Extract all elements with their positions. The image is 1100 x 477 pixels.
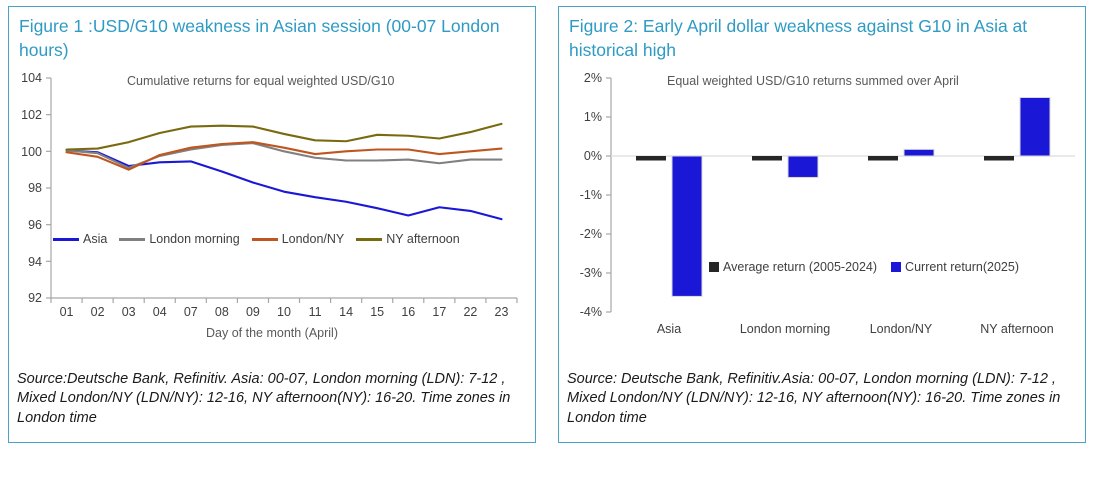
chart-2-y-tick: 2% xyxy=(559,71,602,85)
chart-1-x-tick: 09 xyxy=(246,305,260,319)
bar-ny-afternoon-current xyxy=(1020,98,1050,157)
chart-2-category-label: NY afternoon xyxy=(980,322,1053,336)
figure-1-panel: Figure 1 :USD/G10 weakness in Asian sess… xyxy=(8,6,536,477)
legend-label: Average return (2005-2024) xyxy=(723,260,877,274)
chart-1-y-tick: 96 xyxy=(9,218,42,232)
chart-2-y-tick: -3% xyxy=(559,266,602,280)
chart-1-x-tick: 01 xyxy=(60,305,74,319)
chart-1-x-tick: 03 xyxy=(122,305,136,319)
bar-chart-svg xyxy=(559,66,1085,366)
legend-label: Asia xyxy=(83,232,107,246)
figure-2-source-note: Source: Deutsche Bank, Refinitiv.Asia: 0… xyxy=(567,370,1079,427)
chart-2-y-tick: -4% xyxy=(559,305,602,319)
legend-label: Current return(2025) xyxy=(905,260,1019,274)
legend-item-average-return-2005-2024-: Average return (2005-2024) xyxy=(709,260,877,274)
chart-2-y-tick: -1% xyxy=(559,188,602,202)
chart-1-x-tick: 16 xyxy=(401,305,415,319)
legend-label: NY afternoon xyxy=(386,232,459,246)
chart-1-x-tick: 08 xyxy=(215,305,229,319)
legend-swatch-icon xyxy=(119,238,145,241)
chart-1-y-tick: 92 xyxy=(9,291,42,305)
figure-1-source-box: Source:Deutsche Bank, Refinitiv. Asia: 0… xyxy=(8,366,536,442)
line-series-asia xyxy=(67,151,502,220)
chart-1-x-tick: 04 xyxy=(153,305,167,319)
chart-1-x-tick: 10 xyxy=(277,305,291,319)
figure-1-source-note: Source:Deutsche Bank, Refinitiv. Asia: 0… xyxy=(17,370,529,427)
chart-2-category-label: Asia xyxy=(657,322,681,336)
figures-page: Figure 1 :USD/G10 weakness in Asian sess… xyxy=(0,0,1100,477)
chart-1-x-tick: 22 xyxy=(463,305,477,319)
legend-swatch-icon xyxy=(356,238,382,241)
chart-2-category-label: London/NY xyxy=(870,322,933,336)
bar-london-ny-current xyxy=(904,150,934,157)
legend-swatch-icon xyxy=(709,262,719,272)
chart-2-legend: Average return (2005-2024)Current return… xyxy=(709,260,1019,274)
figure-1-title: Figure 1 :USD/G10 weakness in Asian sess… xyxy=(19,15,527,62)
chart-2-y-tick: 1% xyxy=(559,110,602,124)
legend-item-london-morning: London morning xyxy=(119,232,239,246)
chart-1-x-tick: 15 xyxy=(370,305,384,319)
chart-1-subtitle: Cumulative returns for equal weighted US… xyxy=(127,74,395,88)
chart-2-category-label: London morning xyxy=(740,322,830,336)
chart-1-legend: AsiaLondon morningLondon/NYNY afternoon xyxy=(53,232,460,246)
legend-item-current-return-2025-: Current return(2025) xyxy=(891,260,1019,274)
chart-2-y-tick: 0% xyxy=(559,149,602,163)
bar-asia-average xyxy=(636,156,666,161)
legend-swatch-icon xyxy=(53,238,79,241)
bar-chart: Equal weighted USD/G10 returns summed ov… xyxy=(559,66,1085,366)
legend-label: London/NY xyxy=(282,232,345,246)
legend-item-ny-afternoon: NY afternoon xyxy=(356,232,459,246)
legend-swatch-icon xyxy=(891,262,901,272)
chart-1-y-tick: 98 xyxy=(9,181,42,195)
chart-1-x-tick: 11 xyxy=(309,305,322,319)
chart-1-x-tick: 14 xyxy=(339,305,353,319)
legend-item-london-ny: London/NY xyxy=(252,232,345,246)
chart-1-y-tick: 94 xyxy=(9,255,42,269)
chart-1-x-tick: 23 xyxy=(495,305,509,319)
figure-1-chart-area: Cumulative returns for equal weighted US… xyxy=(8,66,536,366)
chart-1-y-tick: 100 xyxy=(9,145,42,159)
legend-label: London morning xyxy=(149,232,239,246)
figure-2-title: Figure 2: Early April dollar weakness ag… xyxy=(569,15,1077,62)
chart-1-x-tick: 02 xyxy=(91,305,105,319)
figure-1-title-box: Figure 1 :USD/G10 weakness in Asian sess… xyxy=(8,6,536,66)
figure-2-title-box: Figure 2: Early April dollar weakness ag… xyxy=(558,6,1086,66)
legend-item-asia: Asia xyxy=(53,232,107,246)
line-chart: Cumulative returns for equal weighted US… xyxy=(9,66,535,366)
figure-2-source-box: Source: Deutsche Bank, Refinitiv.Asia: 0… xyxy=(558,366,1086,442)
line-chart-svg xyxy=(9,66,535,366)
figure-2-panel: Figure 2: Early April dollar weakness ag… xyxy=(558,6,1086,477)
figure-2-chart-area: Equal weighted USD/G10 returns summed ov… xyxy=(558,66,1086,366)
chart-1-x-tick: 07 xyxy=(184,305,198,319)
bar-asia-current xyxy=(672,156,702,296)
chart-1-x-axis-label: Day of the month (April) xyxy=(9,326,535,340)
bar-london-morning-average xyxy=(752,156,782,161)
bar-london-morning-current xyxy=(788,156,818,177)
legend-swatch-icon xyxy=(252,238,278,241)
chart-1-x-tick: 17 xyxy=(432,305,446,319)
bar-ny-afternoon-average xyxy=(984,156,1014,161)
chart-2-subtitle: Equal weighted USD/G10 returns summed ov… xyxy=(667,74,959,88)
chart-2-y-tick: -2% xyxy=(559,227,602,241)
chart-1-y-tick: 102 xyxy=(9,108,42,122)
bar-london-ny-average xyxy=(868,156,898,161)
line-series-ny-afternoon xyxy=(67,124,502,150)
chart-1-y-tick: 104 xyxy=(9,71,42,85)
